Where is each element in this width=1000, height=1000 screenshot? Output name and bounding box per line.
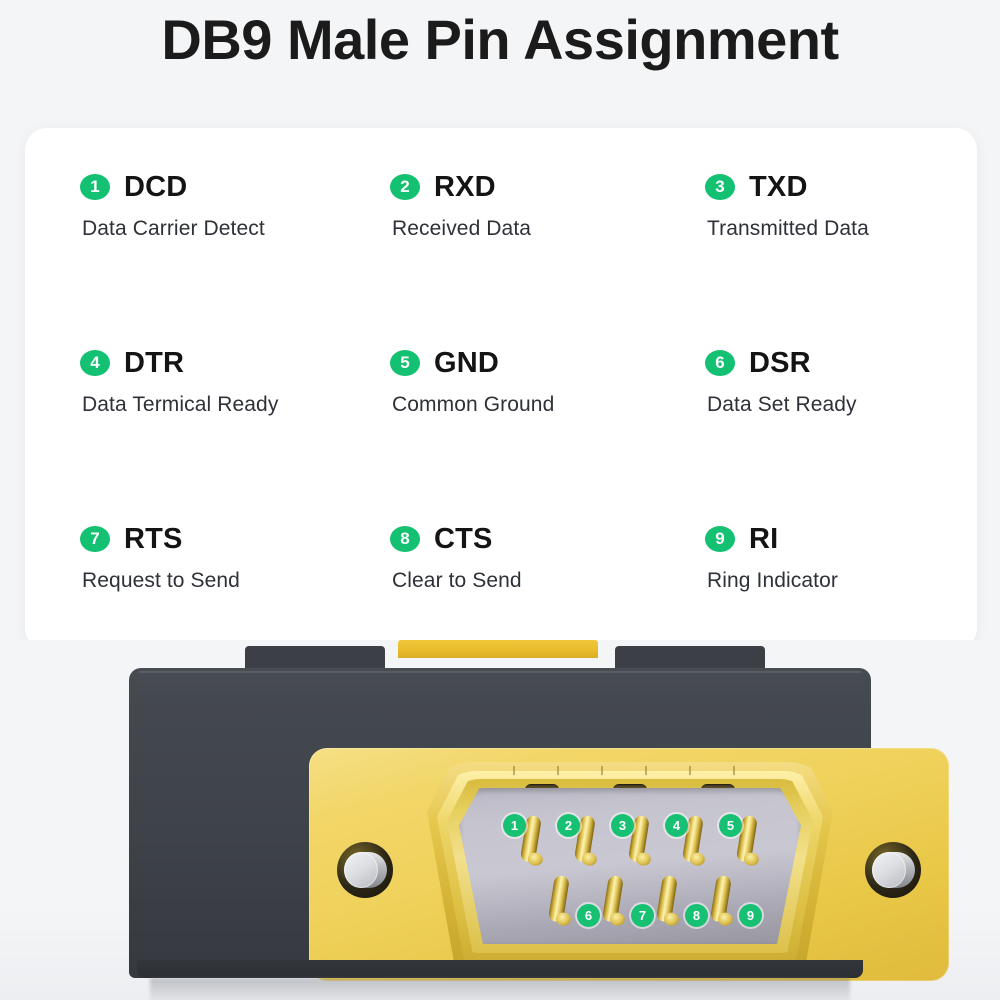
shroud-tick <box>513 766 515 775</box>
left-jackscrew <box>337 842 393 898</box>
pin-entry-header: 7 RTS <box>80 522 390 556</box>
pin-entry-header: 8 CTS <box>390 522 705 556</box>
pin-entry-1: 1 DCD Data Carrier Detect <box>80 170 390 346</box>
pin-abbreviation: DCD <box>124 171 187 204</box>
connector-pin-4 <box>689 816 704 862</box>
pin-description: Ring Indicator <box>707 569 960 593</box>
pin-number-badge: 8 <box>390 526 420 552</box>
page-header: DB9 Male Pin Assignment <box>0 0 1000 78</box>
pin-abbreviation: CTS <box>434 523 493 556</box>
pin-entry-header: 2 RXD <box>390 170 705 204</box>
pin-abbreviation: TXD <box>749 171 808 204</box>
pin-callout-1: 1 <box>503 814 526 837</box>
pin-abbreviation: DTR <box>124 347 184 380</box>
connector-housing-foot <box>137 960 863 978</box>
pin-callout-4: 4 <box>665 814 688 837</box>
pin-description: Request to Send <box>82 569 390 593</box>
pin-tip <box>555 912 572 927</box>
pin-entry-2: 2 RXD Received Data <box>390 170 705 346</box>
connector-pin-5 <box>743 816 758 862</box>
shroud-tick <box>601 766 603 775</box>
pin-callout-6: 6 <box>577 904 600 927</box>
shroud-tick <box>733 766 735 775</box>
connector-faceplate: 1 2 3 4 5 6 7 8 9 <box>309 748 949 981</box>
pin-number-badge: 7 <box>80 526 110 552</box>
pin-entry-3: 3 TXD Transmitted Data <box>705 170 960 346</box>
pin-entry-9: 9 RI Ring Indicator <box>705 522 960 642</box>
pin-description: Clear to Send <box>392 569 705 593</box>
jackscrew-cap <box>872 852 906 888</box>
pin-number-badge: 3 <box>705 174 735 200</box>
pin-entry-7: 7 RTS Request to Send <box>80 522 390 642</box>
connector-top-gold-strip <box>398 640 598 658</box>
pin-entry-header: 5 GND <box>390 346 705 380</box>
pin-tip <box>717 912 734 927</box>
connector-pin-8 <box>663 876 678 922</box>
pin-abbreviation: DSR <box>749 347 811 380</box>
shroud-cavity: 1 2 3 4 5 6 7 8 9 <box>459 788 801 944</box>
connector-pin-1 <box>527 816 542 862</box>
pin-callout-8: 8 <box>685 904 708 927</box>
db9-connector-illustration: 1 2 3 4 5 6 7 8 9 <box>0 640 1000 1000</box>
pin-number-badge: 1 <box>80 174 110 200</box>
pin-tip <box>663 912 680 927</box>
right-jackscrew <box>865 842 921 898</box>
pin-description: Transmitted Data <box>707 217 960 241</box>
pin-tip <box>689 852 706 867</box>
d-shell-shroud: 1 2 3 4 5 6 7 8 9 <box>427 762 833 970</box>
pin-entry-8: 8 CTS Clear to Send <box>390 522 705 642</box>
pin-number-badge: 9 <box>705 526 735 552</box>
jackscrew-cap <box>344 852 378 888</box>
connector-reflection <box>150 978 850 1000</box>
pin-entry-header: 9 RI <box>705 522 960 556</box>
pin-entry-header: 3 TXD <box>705 170 960 204</box>
pin-tip <box>581 852 598 867</box>
pin-number-badge: 6 <box>705 350 735 376</box>
pin-abbreviation: RTS <box>124 523 183 556</box>
pin-table: 1 DCD Data Carrier Detect 2 RXD Received… <box>80 170 960 642</box>
pin-entry-header: 1 DCD <box>80 170 390 204</box>
connector-pin-2 <box>581 816 596 862</box>
connector-pin-6 <box>555 876 570 922</box>
pin-description: Data Termical Ready <box>82 393 390 417</box>
pin-callout-7: 7 <box>631 904 654 927</box>
pin-tip <box>635 852 652 867</box>
pin-number-badge: 2 <box>390 174 420 200</box>
pin-entry-header: 6 DSR <box>705 346 960 380</box>
pin-number-badge: 5 <box>390 350 420 376</box>
connector-pin-9 <box>717 876 732 922</box>
pin-tip <box>609 912 626 927</box>
pin-description: Data Carrier Detect <box>82 217 390 241</box>
pin-description: Received Data <box>392 217 705 241</box>
pin-callout-3: 3 <box>611 814 634 837</box>
connector-pin-3 <box>635 816 650 862</box>
pin-assignment-card: 1 DCD Data Carrier Detect 2 RXD Received… <box>25 128 977 650</box>
pin-tip <box>527 852 544 867</box>
pin-entry-5: 5 GND Common Ground <box>390 346 705 522</box>
connector-pin-7 <box>609 876 624 922</box>
connector-top-shoulder-left <box>245 646 385 668</box>
pin-abbreviation: RXD <box>434 171 496 204</box>
pin-entry-4: 4 DTR Data Termical Ready <box>80 346 390 522</box>
connector-top-shoulder-right <box>615 646 765 668</box>
pin-abbreviation: RI <box>749 523 778 556</box>
shroud-tick <box>645 766 647 775</box>
pin-description: Data Set Ready <box>707 393 960 417</box>
pin-tip <box>743 852 760 867</box>
connector-housing: 1 2 3 4 5 6 7 8 9 <box>129 668 871 978</box>
pin-number-badge: 4 <box>80 350 110 376</box>
pin-callout-9: 9 <box>739 904 762 927</box>
pin-entry-6: 6 DSR Data Set Ready <box>705 346 960 522</box>
pin-abbreviation: GND <box>434 347 499 380</box>
shroud-tick <box>557 766 559 775</box>
pin-callout-2: 2 <box>557 814 580 837</box>
page-title: DB9 Male Pin Assignment <box>161 7 838 72</box>
pin-entry-header: 4 DTR <box>80 346 390 380</box>
pin-description: Common Ground <box>392 393 705 417</box>
pin-callout-5: 5 <box>719 814 742 837</box>
shroud-tick <box>689 766 691 775</box>
